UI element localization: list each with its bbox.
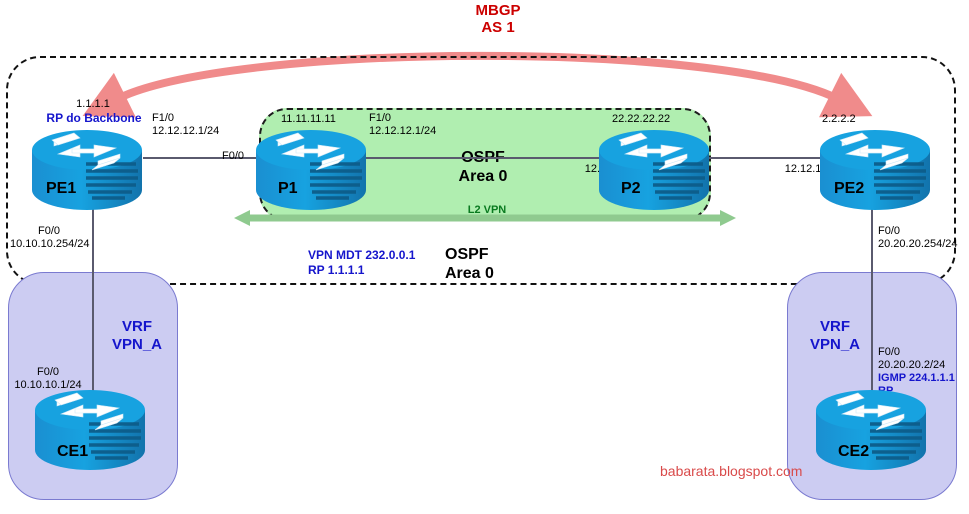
router-p1[interactable]: P1 <box>252 128 370 216</box>
label-ce2-f0-0: F0/0 20.20.20.2/24 <box>878 346 945 372</box>
label-p1-f0-0: F0/0 <box>222 150 244 163</box>
label-pe1-f1-0: F1/0 12.12.12.1/24 <box>152 112 219 138</box>
label-pe2-f0-0: F0/0 20.20.20.254/24 <box>878 225 958 251</box>
label-pe1-role: RP do Backbone <box>24 112 164 125</box>
link-pe2-ce2 <box>871 205 873 410</box>
network-diagram-canvas: MBGP AS 1 L2 VPN OSPF Area 0 VRF VPN_A V… <box>0 0 969 514</box>
watermark: babarata.blogspot.com <box>660 463 802 479</box>
l2vpn-label: L2 VPN <box>452 204 522 217</box>
link-pe1-ce1 <box>92 205 94 410</box>
router-label-pe1: PE1 <box>46 180 76 198</box>
router-label-ce1: CE1 <box>57 443 88 461</box>
label-p1-loopback: 11.11.11.11 <box>281 113 336 126</box>
router-label-p1: P1 <box>278 180 298 198</box>
router-pe1[interactable]: PE1 <box>28 128 146 216</box>
router-label-ce2: CE2 <box>838 443 869 461</box>
router-ce2[interactable]: CE2 <box>812 388 930 476</box>
label-pe2-loopback: 2.2.2.2 <box>822 113 856 126</box>
label-pe1-f0-0: F0/0 10.10.10.254/24 <box>10 225 88 251</box>
ospf-area-label-backbone: OSPF Area 0 <box>438 148 528 186</box>
router-label-p2: P2 <box>621 180 641 198</box>
ospf-area-label-bottom: OSPF Area 0 <box>445 245 535 283</box>
router-pe2[interactable]: PE2 <box>816 128 934 216</box>
link-pe1-p1 <box>143 157 269 159</box>
router-p2[interactable]: P2 <box>595 128 713 216</box>
vrf-label-right: VRF VPN_A <box>790 318 880 354</box>
router-ce1[interactable]: CE1 <box>31 388 149 476</box>
vrf-label-left: VRF VPN_A <box>92 318 182 354</box>
router-label-pe2: PE2 <box>834 180 864 198</box>
label-vpn-mdt: VPN MDT 232.0.0.1 RP 1.1.1.1 <box>308 248 415 278</box>
page-title: MBGP AS 1 <box>443 2 553 36</box>
label-p2-loopback: 22.22.22.22 <box>612 113 670 126</box>
label-p1-f1-0: F1/0 12.12.12.1/24 <box>369 112 436 138</box>
label-pe1-loopback: 1.1.1.1 <box>58 98 128 111</box>
